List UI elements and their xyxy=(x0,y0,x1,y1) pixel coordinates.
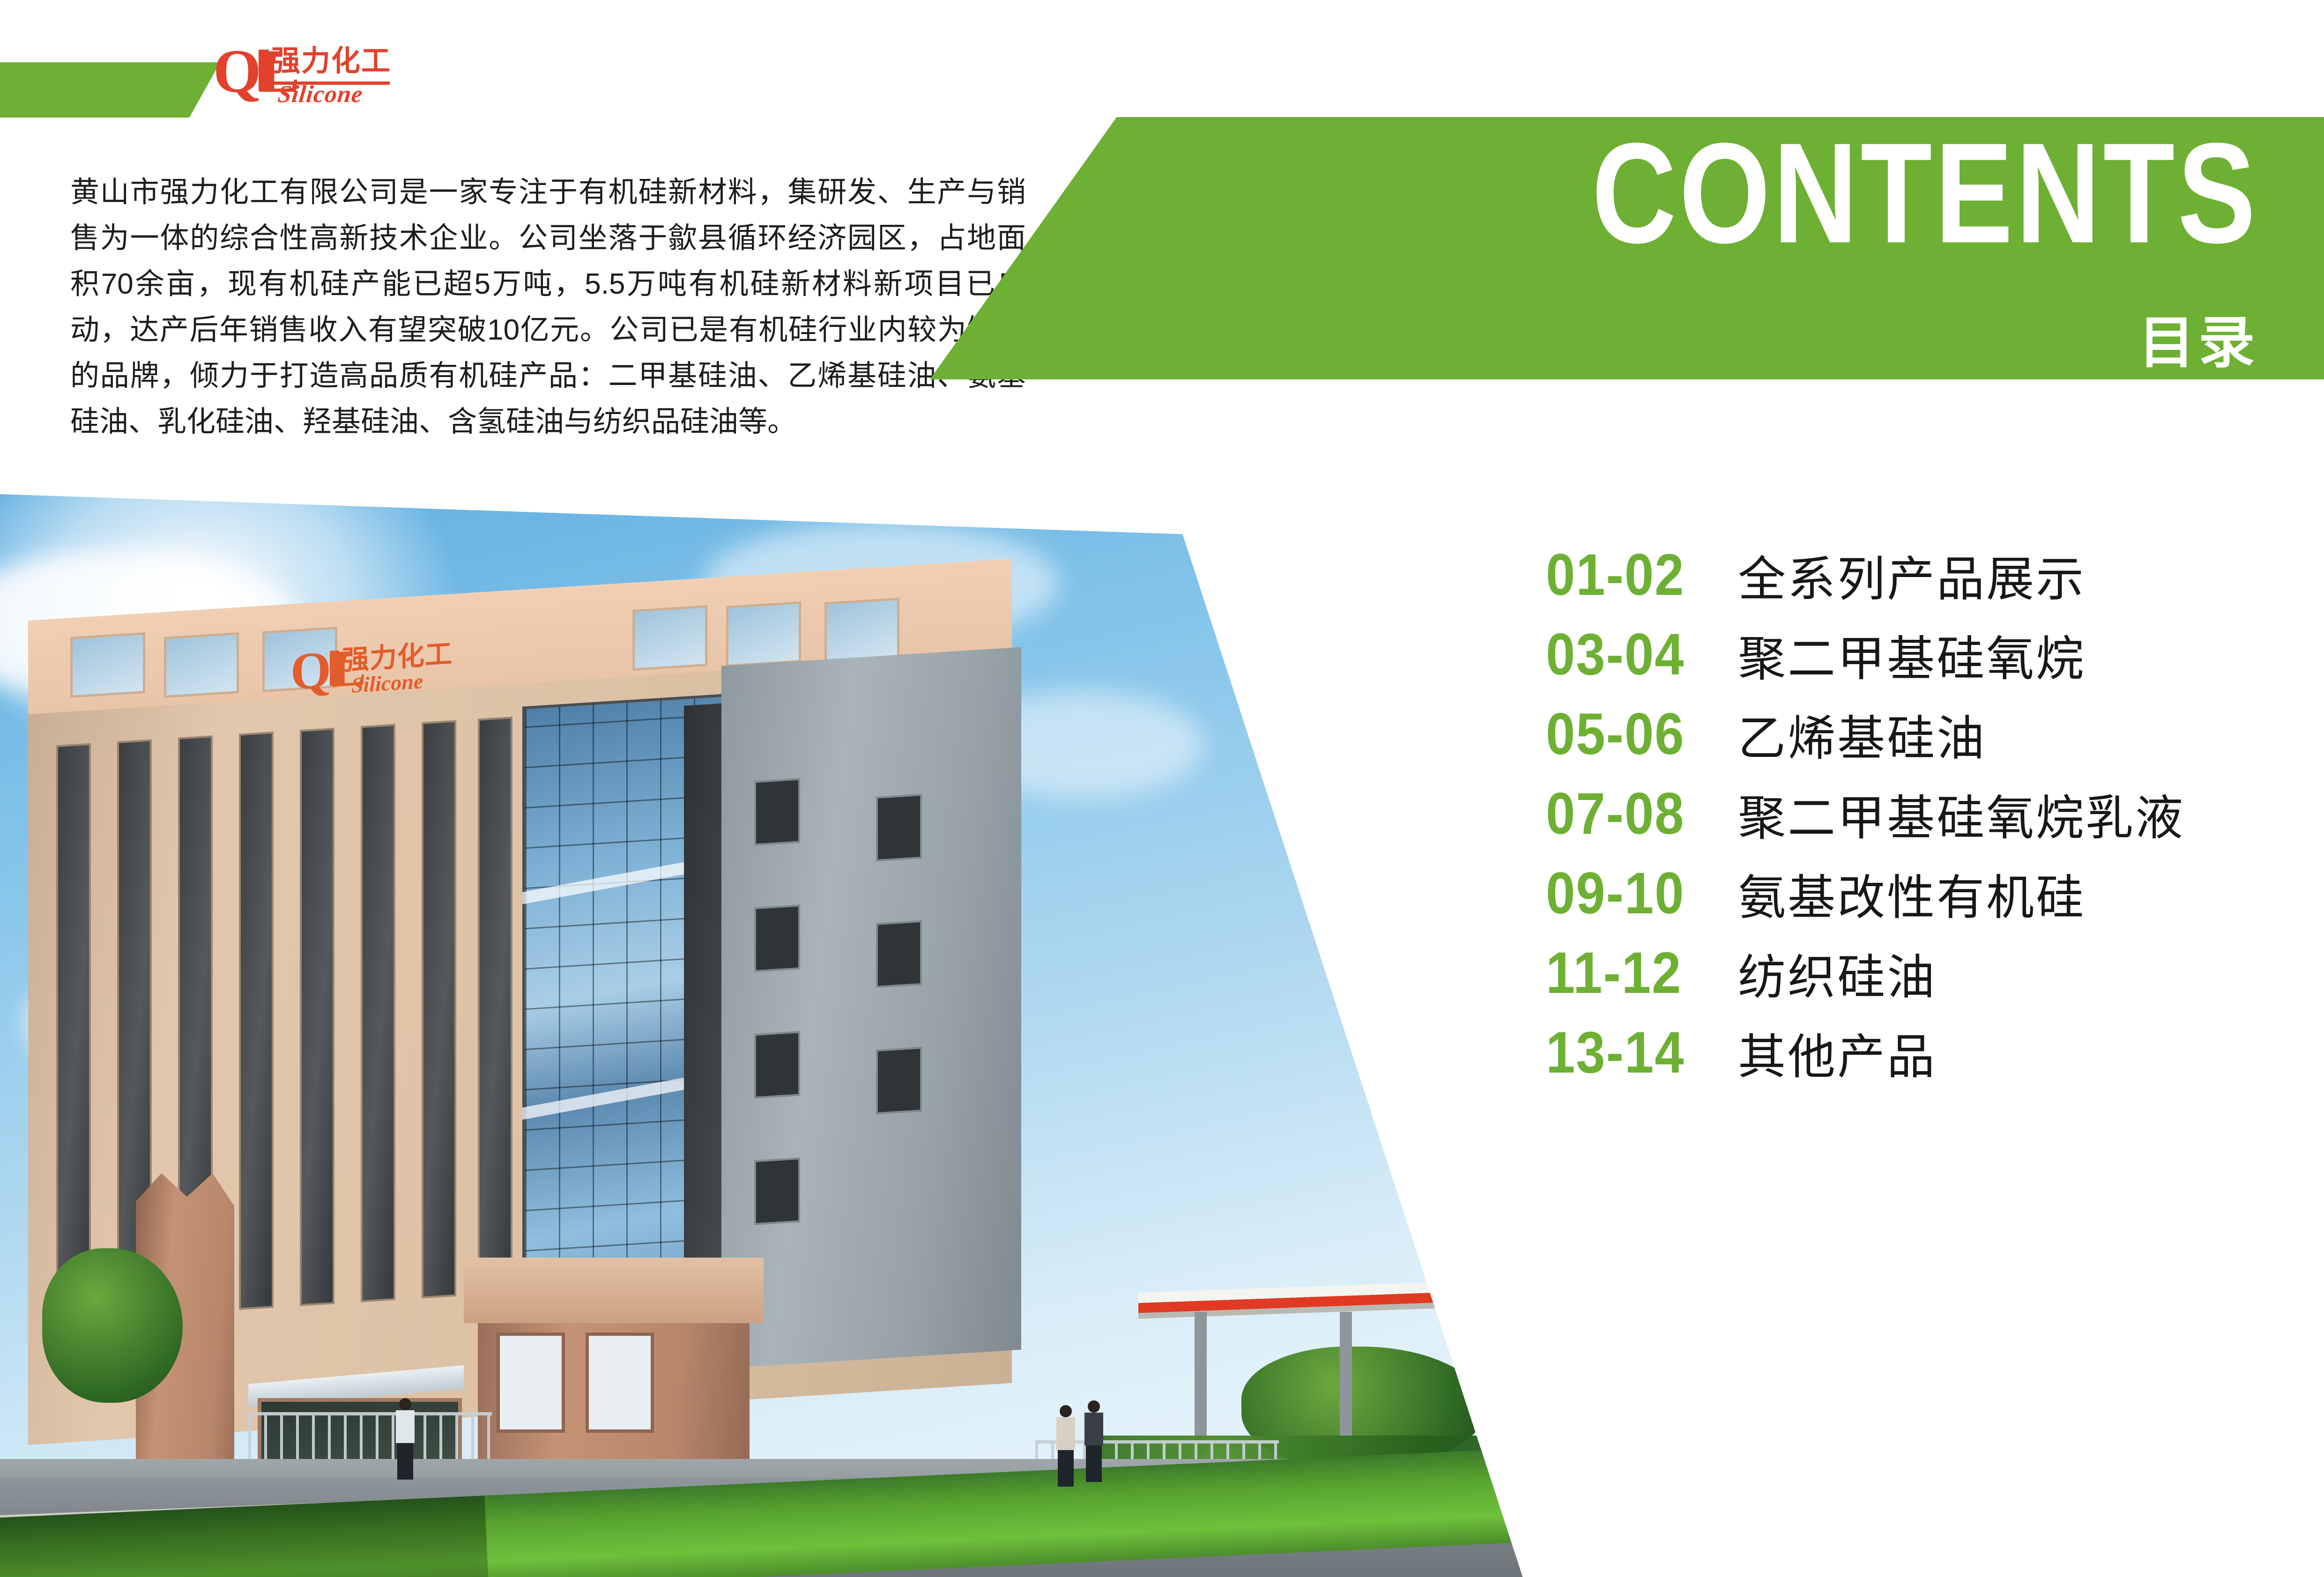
contents-subtitle: 目录 xyxy=(2138,315,2258,371)
pedestrian-legs xyxy=(1086,1445,1102,1482)
facade-window-strip xyxy=(239,732,274,1310)
canopy-column xyxy=(1485,1312,1497,1452)
facade-window-strip xyxy=(361,724,395,1303)
tree xyxy=(42,1248,183,1403)
pedestrian-torso xyxy=(396,1410,415,1443)
toc-label: 聚二甲基硅氧烷 xyxy=(1738,635,2086,683)
top-left-green-accent-shape xyxy=(0,62,220,118)
contents-banner: CONTENTS 目录 xyxy=(930,117,2324,379)
company-logo: QL 强力化工 Silicone xyxy=(213,37,391,102)
wing-window xyxy=(754,904,800,972)
wing-window xyxy=(754,778,800,845)
parapet-opening xyxy=(632,605,707,671)
toc-item-11-12[interactable]: 11-12 纺织硅油 xyxy=(1546,950,2305,1029)
canopy-column xyxy=(1195,1312,1207,1452)
parapet-opening xyxy=(70,632,145,698)
office-building: QL 强力化工 Silicone xyxy=(28,621,1012,1496)
toc-label: 聚二甲基硅氧烷乳液 xyxy=(1738,794,2185,842)
parapet-opening xyxy=(824,598,899,663)
pedestrian xyxy=(1084,1400,1103,1482)
sign-chinese-name: 强力化工 xyxy=(342,640,453,674)
bay-tower-window xyxy=(497,1333,565,1433)
building-right-wing xyxy=(721,647,1021,1369)
toc-pages: 03-04 xyxy=(1546,625,1738,684)
pedestrian-torso xyxy=(1056,1417,1075,1450)
bay-tower-cornice xyxy=(464,1258,764,1323)
toc-item-01-02[interactable]: 01-02 全系列产品展示 xyxy=(1546,552,2305,631)
toc-item-07-08[interactable]: 07-08 聚二甲基硅氧烷乳液 xyxy=(1546,791,2305,870)
facade-window-strip xyxy=(478,717,512,1295)
wing-window xyxy=(876,1047,922,1114)
facade-window-strip xyxy=(422,720,456,1298)
toc-pages: 05-06 xyxy=(1546,705,1738,763)
toc-label: 全系列产品展示 xyxy=(1738,555,2086,603)
pedestrian-legs xyxy=(397,1443,413,1480)
wing-window xyxy=(754,1157,800,1225)
sign-l-bar-icon xyxy=(330,650,339,685)
contents-title: CONTENTS xyxy=(1592,122,2258,265)
wing-window xyxy=(754,1031,800,1098)
toc-item-03-04[interactable]: 03-04 聚二甲基硅氧烷 xyxy=(1546,631,2305,711)
toc-pages: 13-14 xyxy=(1546,1023,1738,1082)
toc-item-13-14[interactable]: 13-14 其他产品 xyxy=(1546,1029,2305,1109)
bay-tower-window xyxy=(586,1333,654,1433)
parapet-opening xyxy=(726,601,801,667)
canopy-column xyxy=(1340,1312,1352,1452)
pedestrian-legs xyxy=(1058,1450,1074,1487)
pedestrian-torso xyxy=(1084,1413,1103,1445)
toc-pages: 09-10 xyxy=(1546,864,1738,923)
company-building-photo: QL 强力化工 Silicone xyxy=(0,494,1532,1577)
toc-label: 纺织硅油 xyxy=(1738,954,1937,1001)
toc-item-05-06[interactable]: 05-06 乙烯基硅油 xyxy=(1546,711,2305,791)
parapet-opening xyxy=(164,632,239,698)
pedestrian xyxy=(396,1398,415,1480)
wing-window xyxy=(876,920,922,988)
toc-pages: 11-12 xyxy=(1546,944,1738,1002)
pedestrian-head xyxy=(1060,1405,1072,1417)
toc-item-09-10[interactable]: 09-10 氨基改性有机硅 xyxy=(1546,870,2305,950)
toc-pages: 07-08 xyxy=(1546,785,1738,843)
pedestrian-head xyxy=(1088,1400,1100,1413)
pedestrian xyxy=(1056,1405,1075,1487)
facade-window-strip xyxy=(300,728,334,1306)
company-intro-paragraph: 黄山市强力化工有限公司是一家专注于有机硅新材料，集研发、生产与销售为一体的综合性… xyxy=(70,170,1026,445)
wing-window xyxy=(876,794,922,861)
pedestrian-head xyxy=(399,1398,411,1410)
facade-window-strip xyxy=(56,743,91,1322)
toc-label: 乙烯基硅油 xyxy=(1738,715,1986,763)
logo-english-name: Silicone xyxy=(276,82,364,107)
toc-label: 其他产品 xyxy=(1738,1033,1937,1081)
table-of-contents: 01-02 全系列产品展示 03-04 聚二甲基硅氧烷 05-06 乙烯基硅油 … xyxy=(1546,552,2305,1109)
logo-chinese-name: 强力化工 xyxy=(271,47,391,76)
toc-label: 氨基改性有机硅 xyxy=(1738,874,2086,922)
toc-pages: 01-02 xyxy=(1546,546,1738,604)
